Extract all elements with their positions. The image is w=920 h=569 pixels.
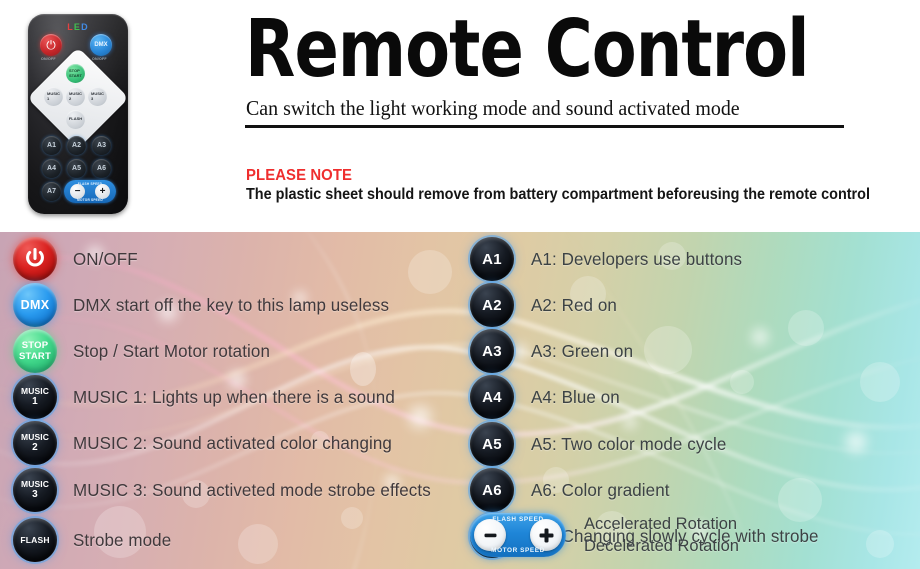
music-number: 1 [32,397,38,407]
remote-body: LED ⏻ ON/OFF DMX ON/OFF STOPSTART MUSIC1… [28,14,128,214]
music-word: MUSIC [21,387,49,396]
legend-row-speed: FLASH SPEED MOTOR SPEED Accelerated Rota… [470,513,744,557]
legend-label-onoff: ON/OFF [73,249,138,270]
decelerated-rotation-label: Decelerated Rotation [584,535,739,557]
remote-pill-bottom-label: MOTOR SPEED [64,198,116,202]
stop-start-button-icon: STOPSTART [13,329,57,373]
legend-row-flash: FLASH Strobe mode [13,518,174,562]
power-icon [13,237,57,281]
legend-row-music-3: MUSIC3 MUSIC 3: Sound activeted mode str… [13,468,442,512]
a5-button-icon: A5 [470,422,514,466]
a3-button-icon: A3 [470,329,514,373]
legend-label-a6: A6: Color gradient [531,480,670,501]
legend-row-a5: A5 A5: Two color mode cycle [470,422,732,466]
legend-label-music-3: MUSIC 3: Sound activeted mode strobe eff… [73,480,431,501]
music-word: MUSIC [21,480,49,489]
header-divider [245,125,844,128]
remote-control-infographic: LED ⏻ ON/OFF DMX ON/OFF STOPSTART MUSIC1… [0,0,920,569]
legend-row-a1: A1 A1: Developers use buttons [470,237,749,281]
please-note-body: The plastic sheet should remove from bat… [246,186,860,204]
power-icon: ⏻ [46,39,56,52]
remote-dmx-sublabel: ON/OFF [92,57,107,61]
dmx-button-icon: DMX [13,283,57,327]
remote-power-sublabel: ON/OFF [41,57,56,61]
legend-row-a3: A3 A3: Green on [470,329,636,373]
plus-glyph [537,526,556,545]
legend-panel: ON/OFF DMX DMX start off the key to this… [0,232,920,569]
legend-row-a2: A2 A2: Red on [470,283,620,327]
remote-flash-button: FLASH [66,110,85,129]
stop-text: STOP [22,341,49,351]
remote-music-2-button: MUSIC2 [66,87,85,106]
led-letter-l: L [67,22,74,32]
page-title: Remote Control [245,6,815,92]
legend-row-a6: A6 A6: Color gradient [470,468,674,512]
speed-control-pill: FLASH SPEED MOTOR SPEED [470,513,566,557]
music-2-button-icon: MUSIC2 [13,421,57,465]
remote-a3-button: A3 [92,136,111,155]
remote-a5-button: A5 [67,159,86,178]
remote-music-1-button: MUSIC1 [44,87,63,106]
legend-label-a3: A3: Green on [531,341,633,362]
led-letter-e: E [74,22,81,32]
remote-speed-pill: FLASH SPEED − + MOTOR SPEED [64,180,116,203]
start-text: START [19,352,51,362]
legend-row-stop-start: STOPSTART Stop / Start Motor rotation [13,329,276,373]
remote-a1-button: A1 [42,136,61,155]
legend-label-a1: A1: Developers use buttons [531,249,742,270]
legend-label-a2: A2: Red on [531,295,617,316]
music-number: 3 [32,490,38,500]
music-word: MUSIC [21,433,49,442]
legend-label-music-2: MUSIC 2: Sound activated color changing [73,433,392,454]
legend-row-dmx: DMX DMX start off the key to this lamp u… [13,283,399,327]
legend-label-a4: A4: Blue on [531,387,620,408]
legend-label-a5: A5: Two color mode cycle [531,434,726,455]
legend-row-music-2: MUSIC2 MUSIC 2: Sound activated color ch… [13,421,402,465]
remote-control-photo: LED ⏻ ON/OFF DMX ON/OFF STOPSTART MUSIC1… [20,8,140,220]
accelerated-rotation-label: Accelerated Rotation [584,513,739,535]
remote-a7-button: A7 [42,182,61,201]
a1-button-icon: A1 [470,237,514,281]
music-number: 2 [32,443,38,453]
legend-row-onoff: ON/OFF [13,237,140,281]
a4-button-icon: A4 [470,375,514,419]
remote-a4-button: A4 [42,159,61,178]
led-letter-d: D [81,22,89,32]
remote-a2-button: A2 [67,136,86,155]
legend-label-music-1: MUSIC 1: Lights up when there is a sound [73,387,395,408]
remote-stop-start-button: STOPSTART [66,64,85,83]
remote-music-3-button: MUSIC3 [88,87,107,106]
minus-glyph [482,527,499,544]
a6-button-icon: A6 [470,468,514,512]
remote-a6-button: A6 [92,159,111,178]
legend-row-music-1: MUSIC1 MUSIC 1: Lights up when there is … [13,375,405,419]
please-note-heading: PLEASE NOTE [246,167,352,185]
legend-label-stop-start: Stop / Start Motor rotation [73,341,270,362]
header-section: LED ⏻ ON/OFF DMX ON/OFF STOPSTART MUSIC1… [0,0,920,232]
music-3-button-icon: MUSIC3 [13,468,57,512]
page-subtitle: Can switch the light working mode and so… [246,96,854,120]
legend-row-a4: A4 A4: Blue on [470,375,623,419]
led-logo-text: LED [28,22,128,32]
remote-power-button: ⏻ [40,34,62,56]
a2-button-icon: A2 [470,283,514,327]
power-symbol [23,247,47,271]
music-1-button-icon: MUSIC1 [13,375,57,419]
speed-description: Accelerated Rotation Decelerated Rotatio… [584,513,739,557]
flash-button-icon: FLASH [13,518,57,562]
motor-speed-label: MOTOR SPEED [470,547,566,554]
remote-dmx-button: DMX [90,34,112,56]
legend-label-flash: Strobe mode [73,530,171,551]
legend-label-dmx: DMX start off the key to this lamp usele… [73,295,389,316]
